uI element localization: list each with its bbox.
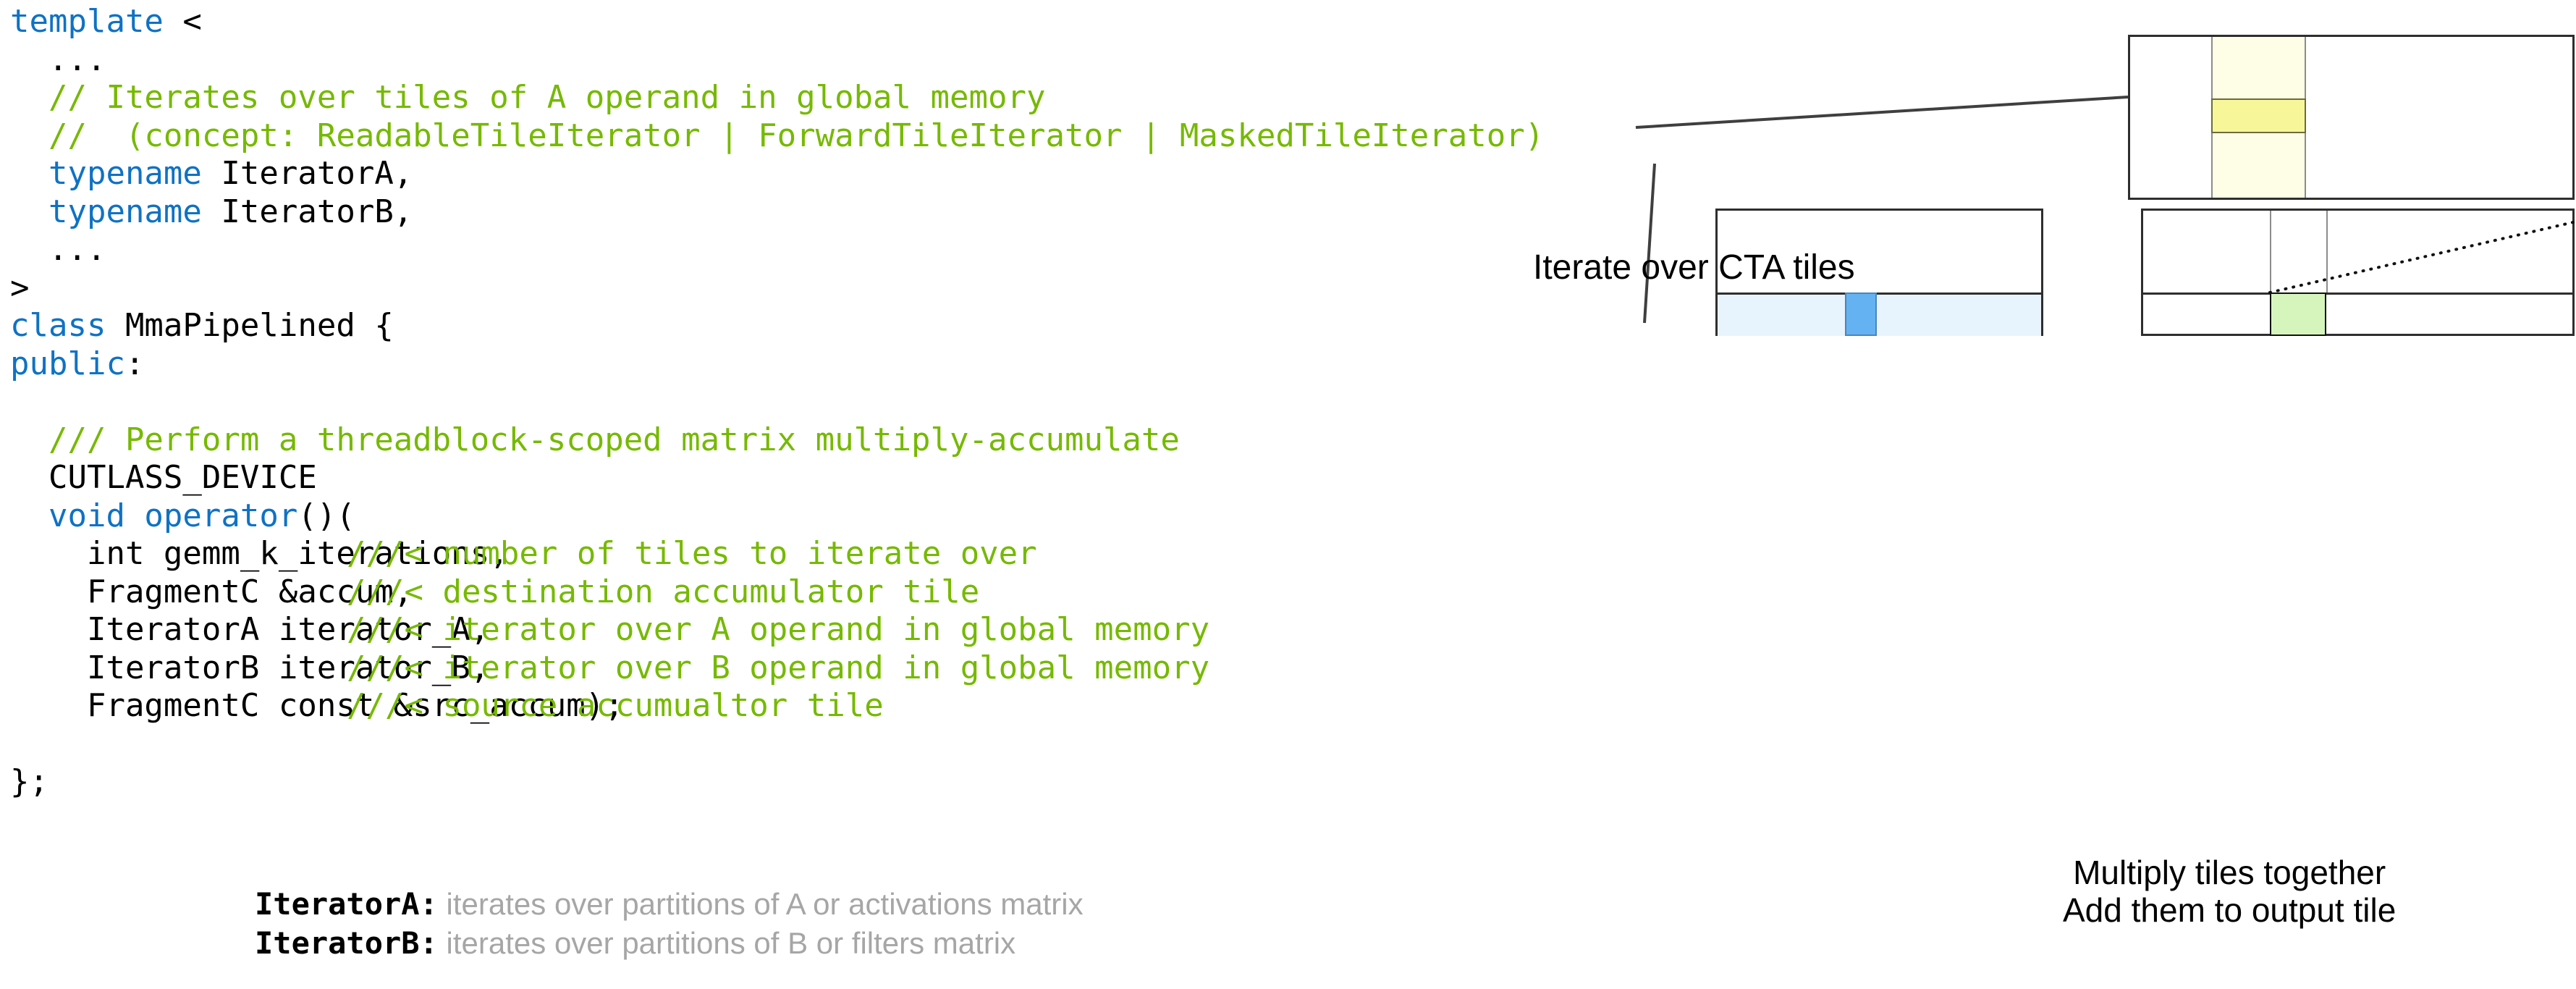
code-line: ... bbox=[10, 41, 1544, 80]
code-line: int gemm_k_iterations,///< number of til… bbox=[10, 535, 1544, 573]
code-parameter-name: int gemm_k_iterations, bbox=[10, 535, 347, 573]
code-token: class bbox=[10, 307, 106, 344]
code-line: template < bbox=[10, 3, 1544, 41]
code-line bbox=[10, 725, 1544, 764]
code-token: ()( bbox=[297, 497, 355, 534]
legend-key: IteratorB: bbox=[255, 925, 438, 961]
code-token: : bbox=[125, 345, 145, 382]
legend-value: iterates over partitions of B or filters… bbox=[438, 926, 1015, 960]
code-token: > bbox=[10, 269, 30, 306]
legend-value: iterates over partitions of A or activat… bbox=[438, 887, 1084, 921]
iterator-legend: IteratorA: iterates over partitions of A… bbox=[255, 885, 1084, 963]
code-parameter-comment: ///< destination accumulator tile bbox=[347, 573, 979, 612]
code-token: template bbox=[10, 3, 182, 40]
code-token: CUTLASS_DEVICE bbox=[10, 459, 317, 496]
code-line: typename IteratorB, bbox=[10, 193, 1544, 232]
code-line: IteratorB iterator_B,///< iterator over … bbox=[10, 649, 1544, 688]
code-token: // (concept: ReadableTileIterator | Forw… bbox=[10, 117, 1544, 154]
leader-line-to-a-tile bbox=[1636, 97, 2128, 127]
code-parameter-name: FragmentC &accum, bbox=[10, 573, 347, 612]
code-parameter-comment: ///< source accumualtor tile bbox=[347, 687, 884, 725]
code-token: typename bbox=[10, 155, 202, 192]
code-token: public bbox=[10, 345, 125, 382]
code-line: // (concept: ReadableTileIterator | Forw… bbox=[10, 117, 1544, 156]
code-token: ... bbox=[10, 231, 106, 268]
code-line: /// Perform a threadblock-scoped matrix … bbox=[10, 421, 1544, 460]
code-line: public: bbox=[10, 345, 1544, 384]
code-parameter-comment: ///< iterator over B operand in global m… bbox=[347, 649, 1209, 688]
code-token: < bbox=[182, 3, 202, 40]
code-parameter-comment: ///< number of tiles to iterate over bbox=[347, 535, 1037, 573]
code-token: /// Perform a threadblock-scoped matrix … bbox=[10, 421, 1180, 458]
code-token: }; bbox=[10, 763, 48, 800]
code-line: }; bbox=[10, 763, 1544, 801]
code-token: IteratorB, bbox=[202, 193, 413, 230]
code-token: ... bbox=[10, 41, 106, 78]
code-parameter-name: FragmentC const &src_accum); bbox=[10, 687, 347, 725]
code-parameter-name: IteratorB iterator_B, bbox=[10, 649, 347, 688]
code-line: IteratorA iterator_A,///< iterator over … bbox=[10, 611, 1544, 649]
code-line: typename IteratorA, bbox=[10, 155, 1544, 193]
label-multiply-add: Multiply tiles together Add them to outp… bbox=[2063, 854, 2396, 929]
code-line: FragmentC &accum,///< destination accumu… bbox=[10, 573, 1544, 612]
code-token: typename bbox=[10, 193, 202, 230]
slide-canvas: template < ... // Iterates over tiles of… bbox=[0, 0, 2576, 989]
code-token: void operator bbox=[10, 497, 297, 534]
legend-key: IteratorA: bbox=[255, 886, 438, 922]
code-parameter-comment: ///< iterator over A operand in global m… bbox=[347, 611, 1209, 649]
code-parameter-name: IteratorA iterator_A, bbox=[10, 611, 347, 649]
code-token: // Iterates over tiles of A operand in g… bbox=[10, 79, 1045, 116]
leader-line-to-b-tile bbox=[1644, 164, 1655, 323]
code-line: // Iterates over tiles of A operand in g… bbox=[10, 79, 1544, 117]
code-line: ... bbox=[10, 231, 1544, 269]
code-line: FragmentC const &src_accum);///< source … bbox=[10, 687, 1544, 725]
label-iterate-over-cta-tiles: Iterate over CTA tiles bbox=[1533, 248, 1855, 287]
code-line: void operator()( bbox=[10, 497, 1544, 536]
code-token: MmaPipelined { bbox=[106, 307, 393, 344]
legend-row: IteratorB: iterates over partitions of B… bbox=[255, 924, 1084, 963]
code-token: IteratorA, bbox=[202, 155, 413, 192]
code-block: template < ... // Iterates over tiles of… bbox=[10, 3, 1544, 801]
code-line: CUTLASS_DEVICE bbox=[10, 459, 1544, 497]
tile-diagram bbox=[1715, 0, 2576, 989]
code-line: > bbox=[10, 269, 1544, 308]
code-line: class MmaPipelined { bbox=[10, 307, 1544, 345]
leader-lines bbox=[1715, 0, 2576, 989]
code-line bbox=[10, 383, 1544, 421]
legend-row: IteratorA: iterates over partitions of A… bbox=[255, 885, 1084, 924]
